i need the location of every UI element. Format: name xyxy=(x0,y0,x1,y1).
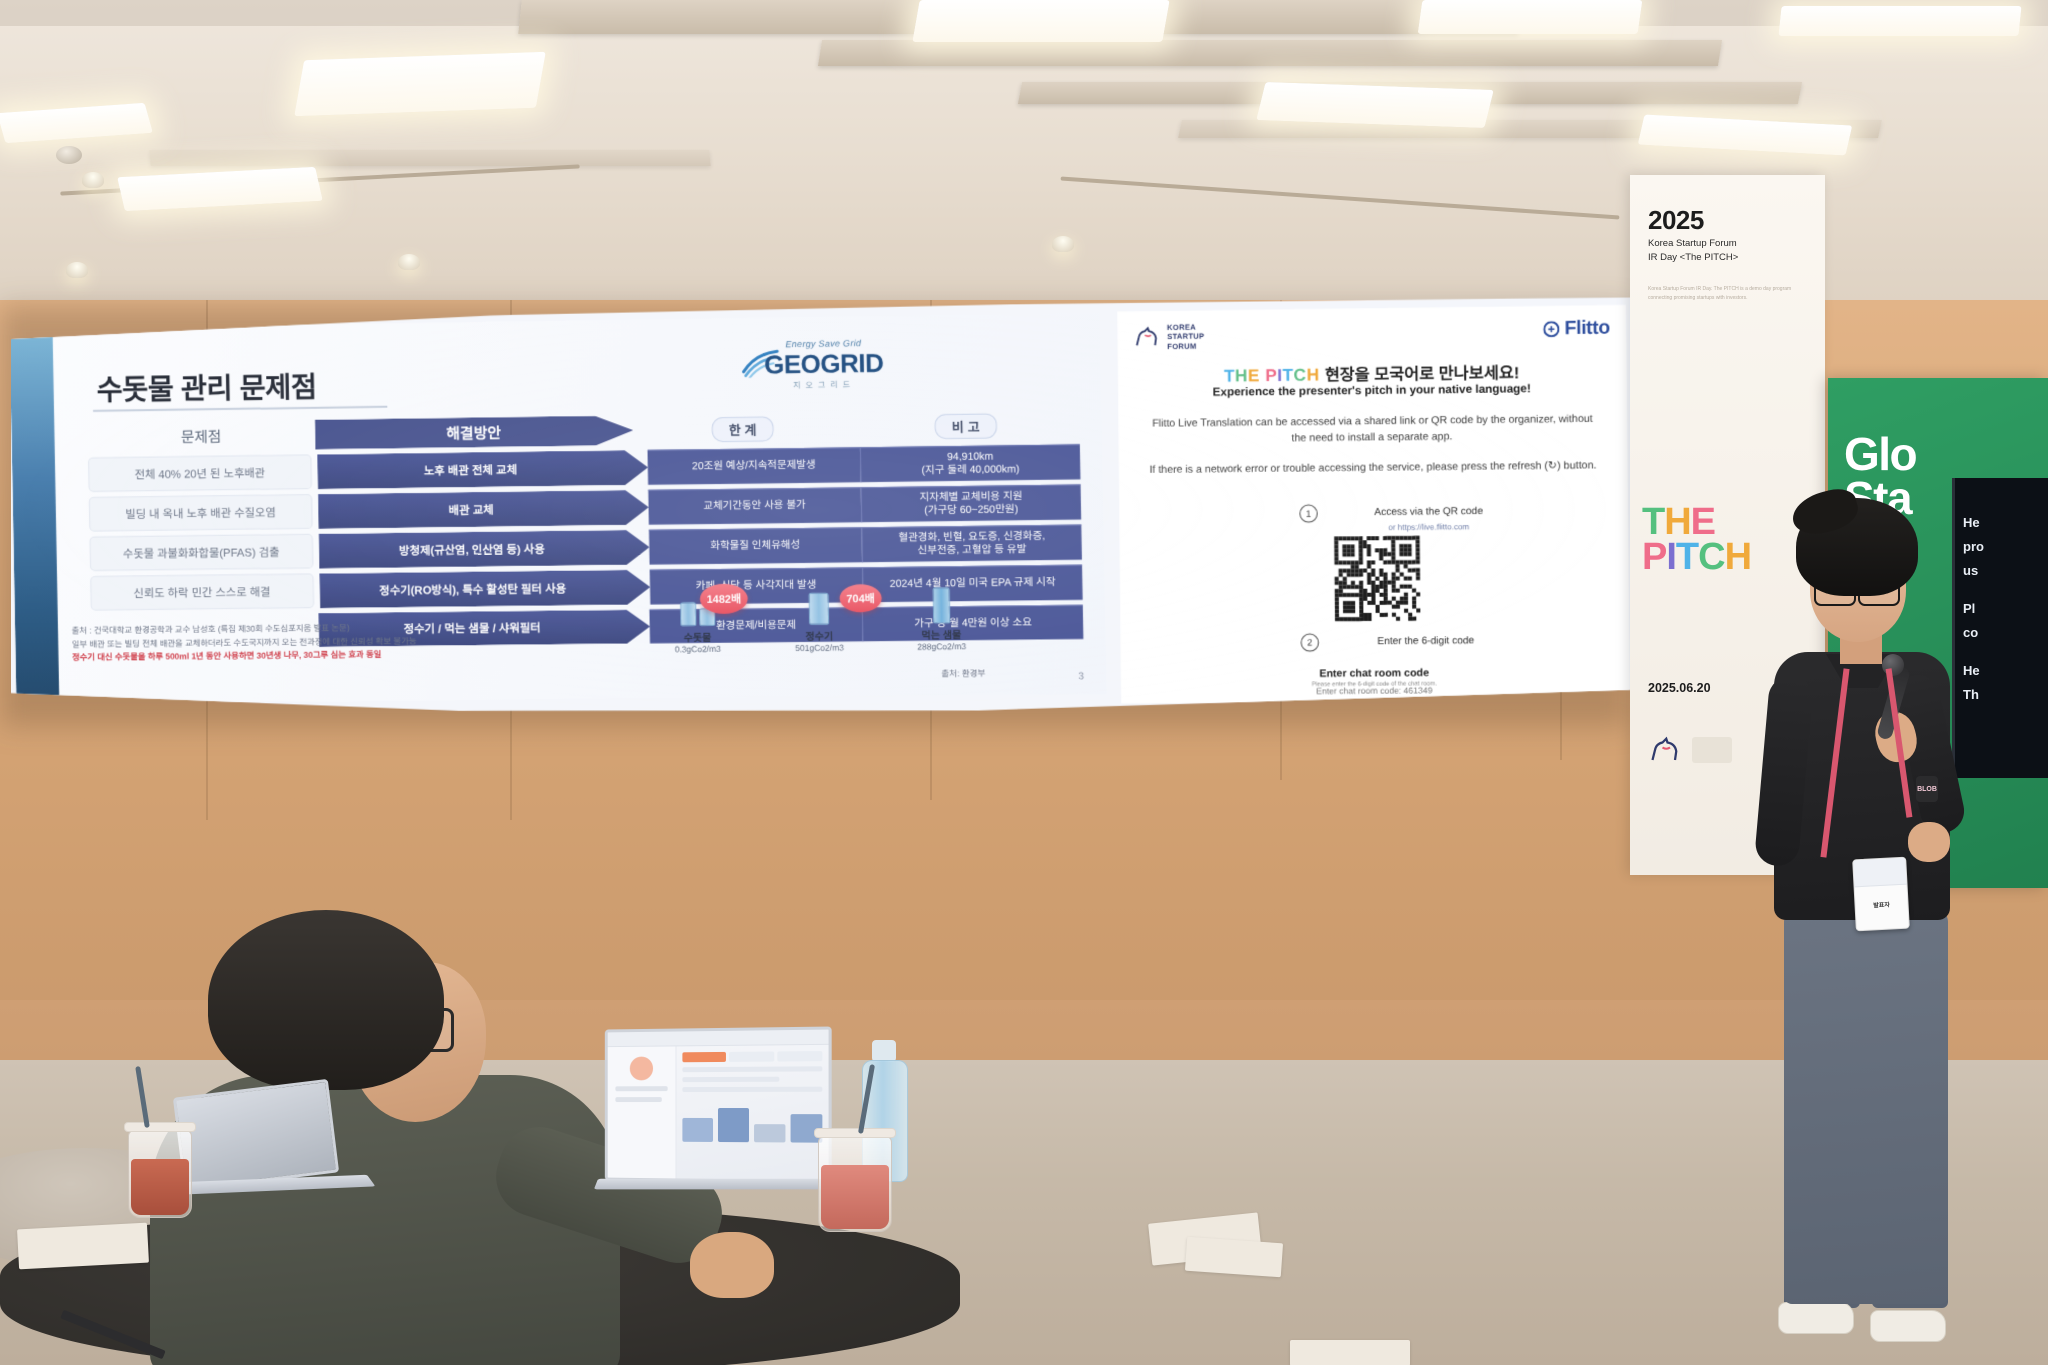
spot-light xyxy=(66,262,88,278)
slide-page-number: 3 xyxy=(1078,671,1084,682)
cell-limit: 교체기간동안 사용 불가 xyxy=(648,487,861,525)
trousers xyxy=(1784,908,1948,1304)
presenter: 발표자 BLOB xyxy=(1758,490,2048,1365)
flitto-paragraph-1: Flitto Live Translation can be accessed … xyxy=(1147,411,1599,449)
ksf-logo-text: KOREA STARTUP FORUM xyxy=(1167,322,1205,351)
horse-logo-icon xyxy=(1648,735,1682,765)
slide-footnotes: 출처 : 건국대학교 환경공학과 교수 남성호 (특집 제30회 수도심포지움 … xyxy=(72,621,417,665)
cell-remark: 94,910km (지구 둘레 40,000km) xyxy=(860,444,1081,482)
flitto-translation-panel: KOREA STARTUP FORUM Flitto THE PITCH 현장을… xyxy=(1117,305,1629,703)
curved-display: Problem statement Energy Save Grid GEOGR… xyxy=(11,297,1640,723)
security-camera xyxy=(56,146,82,164)
table-row: 수돗물 과불화화합물(PFAS) 검출 방청제(규산염, 인산염 등) 사용 화… xyxy=(89,525,1081,571)
hand xyxy=(1908,822,1950,862)
paper-sheet xyxy=(17,1223,149,1270)
ceiling-light xyxy=(294,52,546,116)
geogrid-name: GEOGRID xyxy=(764,348,884,381)
header-solution: 해결방안 xyxy=(315,415,634,449)
presentation-slide: Problem statement Energy Save Grid GEOGR… xyxy=(10,312,1107,704)
chat-room-code: Enter chat room code: 461349 xyxy=(1121,684,1630,697)
step-1-link: or https://live.flitto.com xyxy=(1388,522,1469,532)
step-2-number: 2 xyxy=(1301,634,1319,652)
slide-left-accent: Problem statement xyxy=(10,328,60,704)
cell-limit: 화학물질 인체유해성 xyxy=(649,527,862,564)
step-1-label: Access via the QR code or https://live.f… xyxy=(1332,504,1526,535)
header-limit-pill: 한 계 xyxy=(712,416,774,442)
cell-solution: 배관 교체 xyxy=(318,490,649,529)
scene-root: Problem statement Energy Save Grid GEOGR… xyxy=(0,0,2048,1365)
geogrid-logo: Energy Save Grid GEOGRID 지오그리드 xyxy=(764,338,884,392)
cell-problem: 빌딩 내 옥내 노후 배관 수질오염 xyxy=(89,494,313,531)
table-row: 빌딩 내 옥내 노후 배관 수질오염 배관 교체 교체기간동안 사용 불가 지자… xyxy=(89,484,1081,531)
flitto-brand-text: Flitto xyxy=(1565,317,1610,340)
paper-sheet xyxy=(1185,1237,1283,1278)
banner-body-text: Korea Startup Forum IR Day. The PITCH is… xyxy=(1648,285,1811,302)
sponsor-logo-icon xyxy=(1692,737,1732,763)
compare-value: 0.3gCo2/m3 xyxy=(645,643,751,654)
cell-solution: 방청제(규산염, 인산염 등) 사용 xyxy=(319,530,650,569)
flitto-logo: Flitto xyxy=(1543,317,1610,340)
laptop-screen-back xyxy=(173,1079,339,1191)
compare-value: 288gCo2/m3 xyxy=(889,641,996,652)
banner-year: 2025 xyxy=(1648,205,1704,236)
header-limit: 한 계 xyxy=(633,415,853,443)
flitto-paragraph-2: If there is a network error or trouble a… xyxy=(1147,457,1599,478)
banner-logos xyxy=(1648,735,1732,765)
header-solution-label: 해결방안 xyxy=(446,422,501,444)
header-remark: 비 고 xyxy=(852,412,1079,440)
slide-source: 출처: 환경부 xyxy=(941,667,985,679)
compare-label: 수돗물 xyxy=(645,628,751,644)
step-1-text: Access via the QR code xyxy=(1374,506,1483,518)
cell-problem: 수돗물 과불화화합물(PFAS) 검출 xyxy=(89,534,313,571)
cell-problem: 전체 40% 20년 된 노후배관 xyxy=(88,454,312,492)
green-line-1: Glo xyxy=(1844,432,1916,476)
hand xyxy=(690,1232,774,1298)
ksf-logo-block: KOREA STARTUP FORUM xyxy=(1134,322,1205,351)
water-bottle-cap xyxy=(872,1040,896,1062)
flitto-mark-icon xyxy=(1543,321,1560,337)
ceiling-light xyxy=(912,0,1169,42)
hair xyxy=(208,910,444,1090)
qr-code[interactable] xyxy=(1334,536,1420,621)
cell-solution: 노후 배관 전체 교체 xyxy=(317,450,648,489)
bottled-water-icon xyxy=(887,583,994,624)
cell-remark: 혈관경화, 빈혈, 요도증, 신경화증, 신부전증, 고혈압 등 유발 xyxy=(861,525,1082,563)
cell-limit: 20조원 예상/지속적문제발생 xyxy=(648,447,861,485)
flitto-headline-kr-text: 현장을 모국어로 만나보세요! xyxy=(1325,365,1520,384)
name-badge: 발표자 xyxy=(1852,857,1910,932)
compare-label: 정수기 xyxy=(766,627,872,643)
cell-remark: 지자체별 교체비용 지원 (가구당 60~250만원) xyxy=(860,484,1081,522)
header-remark-pill: 비 고 xyxy=(935,413,997,439)
footnote-highlight: 정수기 대신 수돗물을 하루 500ml 1년 동안 사용하면 30년생 나무,… xyxy=(72,648,417,665)
shirt-logo: BLOB xyxy=(1916,776,1938,802)
table-row: 전체 40% 20년 된 노후배관 노후 배관 전체 교체 20조원 예상/지속… xyxy=(88,444,1080,492)
laptop-keyboard[interactable] xyxy=(594,1179,844,1190)
badge-name: 발표자 xyxy=(1855,899,1907,911)
ceiling-light xyxy=(117,167,323,211)
header-problem: 문제점 xyxy=(88,424,316,448)
banner-date: 2025.06.20 xyxy=(1648,681,1711,695)
spot-light xyxy=(398,254,420,270)
compare-label: 먹는 샘물 xyxy=(888,626,995,642)
code-title: Enter chat room code xyxy=(1273,667,1477,681)
spot-light xyxy=(1052,236,1074,252)
spot-light xyxy=(82,172,104,188)
ceiling-light xyxy=(0,103,153,143)
step-1-number: 1 xyxy=(1299,504,1317,522)
the-pitch-wordmark: THE PITCH xyxy=(1224,365,1325,385)
step-2-label: Enter the 6-digit code xyxy=(1329,634,1523,650)
drink-cup xyxy=(818,1136,892,1232)
compare-value: 501gCo2/m3 xyxy=(767,642,873,653)
ceiling-light xyxy=(1778,6,2021,36)
cell-problem: 신뢰도 하락 민간 스스로 해결 xyxy=(90,573,314,610)
geogrid-name-kr: 지오그리드 xyxy=(764,379,883,392)
shoe xyxy=(1778,1302,1854,1334)
cell-solution: 정수기(RO방식), 특수 활성탄 필터 사용 xyxy=(319,570,650,608)
ceiling-light xyxy=(1256,82,1494,128)
multiplier-badge: 704배 xyxy=(839,584,882,612)
slide-title: 수돗물 관리 문제점 xyxy=(96,364,317,409)
paper-sheet xyxy=(1290,1340,1410,1365)
horse-logo-icon xyxy=(1134,325,1160,349)
banner-subtitle: Korea Startup Forum IR Day <The PITCH> xyxy=(1648,237,1738,266)
shoe xyxy=(1870,1310,1946,1342)
laptop-screen[interactable] xyxy=(605,1026,832,1183)
cup-lid xyxy=(124,1122,196,1132)
laptop-closed[interactable] xyxy=(178,1088,374,1208)
ceiling-light xyxy=(1418,0,1643,34)
laptop-open[interactable] xyxy=(596,1028,836,1208)
drink-cup xyxy=(128,1130,192,1218)
cup-lid xyxy=(814,1128,896,1138)
